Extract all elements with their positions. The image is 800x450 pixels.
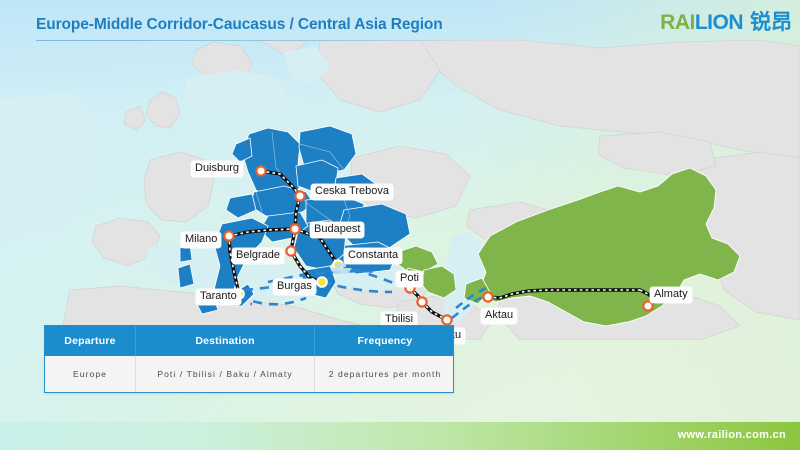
cell-destination: Poti / Tbilisi / Baku / Almaty [135,356,314,392]
slide-root: Duisburg Ceska Trebova Budapest Milano B… [0,0,800,450]
column-header-frequency: Frequency [314,326,455,356]
column-header-destination: Destination [135,326,314,356]
city-label-constanta: Constanta [344,248,402,264]
table-header-row: Departure Destination Frequency [45,326,453,356]
footer-bar: www.railion.com.cn [0,422,800,450]
table-row: Europe Poti / Tbilisi / Baku / Almaty 2 … [45,356,453,392]
city-label-taranto: Taranto [196,289,241,305]
city-label-poti: Poti [396,271,423,287]
city-label-duisburg: Duisburg [191,161,243,177]
route-map: Duisburg Ceska Trebova Budapest Milano B… [0,40,800,340]
city-label-belgrade: Belgrade [232,248,284,264]
city-label-milano: Milano [181,232,221,248]
title-underline [36,40,486,41]
column-header-departure: Departure [45,326,135,356]
schedule-table: Departure Destination Frequency Europe P… [44,325,454,393]
logo-text-rai: RAI [660,11,695,34]
city-label-budapest: Budapest [310,222,364,238]
city-label-aktau: Aktau [481,308,517,324]
city-label-burgas: Burgas [273,279,316,295]
logo-text-lion: LION [695,11,743,34]
cell-departure: Europe [45,356,135,392]
railion-logo: RAILION 锐昂 [660,9,792,35]
page-title: Europe-Middle Corridor-Caucasus / Centra… [36,16,443,34]
city-label-ceska-trebova: Ceska Trebova [311,184,393,200]
footer-website-url: www.railion.com.cn [678,429,786,441]
logo-chinese-name: 锐昂 [750,12,792,33]
cell-frequency: 2 departures per month [314,356,455,392]
city-label-almaty: Almaty [650,287,692,303]
